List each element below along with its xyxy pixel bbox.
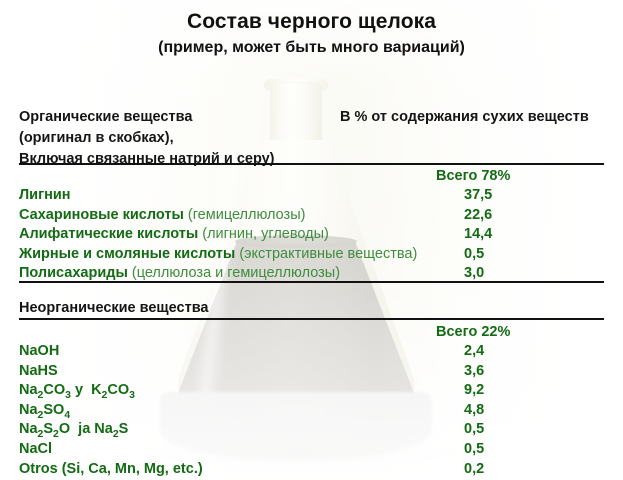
- organic-row-label: Сахариновые кислоты (гемицеллюлозы): [19, 207, 305, 223]
- inorganic-row-formula: NaOH: [19, 343, 59, 359]
- divider-under-organic-header: [19, 163, 604, 165]
- inorganic-row-value: 0,5: [464, 421, 484, 437]
- inorganic-row-value: 2,4: [464, 343, 484, 359]
- divider-under-inorganic-header: [19, 318, 604, 320]
- organic-row-value: 14,4: [464, 226, 492, 242]
- organic-row-name: Алифатические кислоты: [19, 226, 198, 242]
- organic-header-line-1: (оригинал в скобках),: [19, 128, 275, 149]
- organic-row-label: Жирные и смоляные кислоты (экстрактивные…: [19, 246, 417, 262]
- inorganic-row: Na2CO3 y K2CO39,2: [19, 382, 604, 402]
- inorganic-row-formula: NaHS: [19, 363, 58, 379]
- organic-row-note: (гемицеллюлозы): [184, 207, 306, 223]
- inorganic-row: Na2SO44,8: [19, 402, 604, 422]
- title-block: Состав черного щелока (пример, может быт…: [0, 10, 623, 57]
- organic-row-label: Алифатические кислоты (лигнин, углеводы): [19, 226, 329, 242]
- organic-row: Жирные и смоляные кислоты (экстрактивные…: [19, 246, 604, 266]
- inorganic-row-formula: Otros (Si, Ca, Mn, Mg, etc.): [19, 461, 203, 477]
- inorganic-row: NaHS3,6: [19, 363, 604, 383]
- organic-row-value: 22,6: [464, 207, 492, 223]
- page-subtitle: (пример, может быть много вариаций): [0, 38, 623, 57]
- organic-row-name: Сахариновые кислоты: [19, 207, 184, 223]
- organic-row-name: Полисахариды: [19, 265, 128, 281]
- slide-content: Состав черного щелока (пример, может быт…: [0, 0, 623, 480]
- organic-header-line-0: Органические вещества: [19, 107, 275, 128]
- organic-row-value: 0,5: [464, 246, 484, 262]
- inorganic-row-value: 9,2: [464, 382, 484, 398]
- organic-header-label: Органические вещества(оригинал в скобках…: [19, 107, 275, 170]
- slide-root: Состав черного щелока (пример, может быт…: [0, 0, 623, 480]
- organic-row-name: Лигнин: [19, 187, 71, 203]
- inorganic-row: Otros (Si, Ca, Mn, Mg, etc.)0,2: [19, 461, 604, 480]
- inorganic-row-value: 4,8: [464, 402, 484, 418]
- inorganic-row-formula: Na2SO4: [19, 402, 70, 418]
- organic-row-label: Полисахариды (целлюлоза и гемицеллюлозы): [19, 265, 340, 281]
- organic-row: Алифатические кислоты (лигнин, углеводы)…: [19, 226, 604, 246]
- organic-header-line-2: Включая связанные натрий и серу): [19, 149, 275, 170]
- organic-row-value: 37,5: [464, 187, 492, 203]
- inorganic-section-label: Неорганические вещества: [19, 300, 209, 316]
- percent-basis-header: В % от содержания сухих веществ: [340, 107, 589, 128]
- inorganic-row: NaOH2,4: [19, 343, 604, 363]
- page-title: Состав черного щелока: [0, 10, 623, 35]
- inorganic-row: Na2S2O ja Na2S0,5: [19, 421, 604, 441]
- organic-row: Лигнин37,5: [19, 187, 604, 207]
- organic-row-value: 3,0: [464, 265, 484, 281]
- organic-row-note: (лигнин, углеводы): [198, 226, 329, 242]
- organic-row-name: Жирные и смоляные кислоты: [19, 246, 235, 262]
- organic-total-label: Всего 78%: [436, 168, 510, 184]
- inorganic-row-formula: NaCl: [19, 441, 52, 457]
- inorganic-row: NaCl0,5: [19, 441, 604, 461]
- inorganic-row-value: 3,6: [464, 363, 484, 379]
- organic-row-label: Лигнин: [19, 187, 71, 203]
- inorganic-row-value: 0,2: [464, 461, 484, 477]
- inorganic-total-label: Всего 22%: [436, 324, 510, 340]
- inorganic-row-formula: Na2CO3 y K2CO3: [19, 382, 135, 398]
- inorganic-row-value: 0,5: [464, 441, 484, 457]
- organic-row-note: (экстрактивные вещества): [235, 246, 417, 262]
- organic-row: Сахариновые кислоты (гемицеллюлозы)22,6: [19, 207, 604, 227]
- inorganic-row-formula: Na2S2O ja Na2S: [19, 421, 128, 437]
- divider-after-organic-rows: [19, 281, 604, 283]
- organic-row-note: (целлюлоза и гемицеллюлозы): [128, 265, 340, 281]
